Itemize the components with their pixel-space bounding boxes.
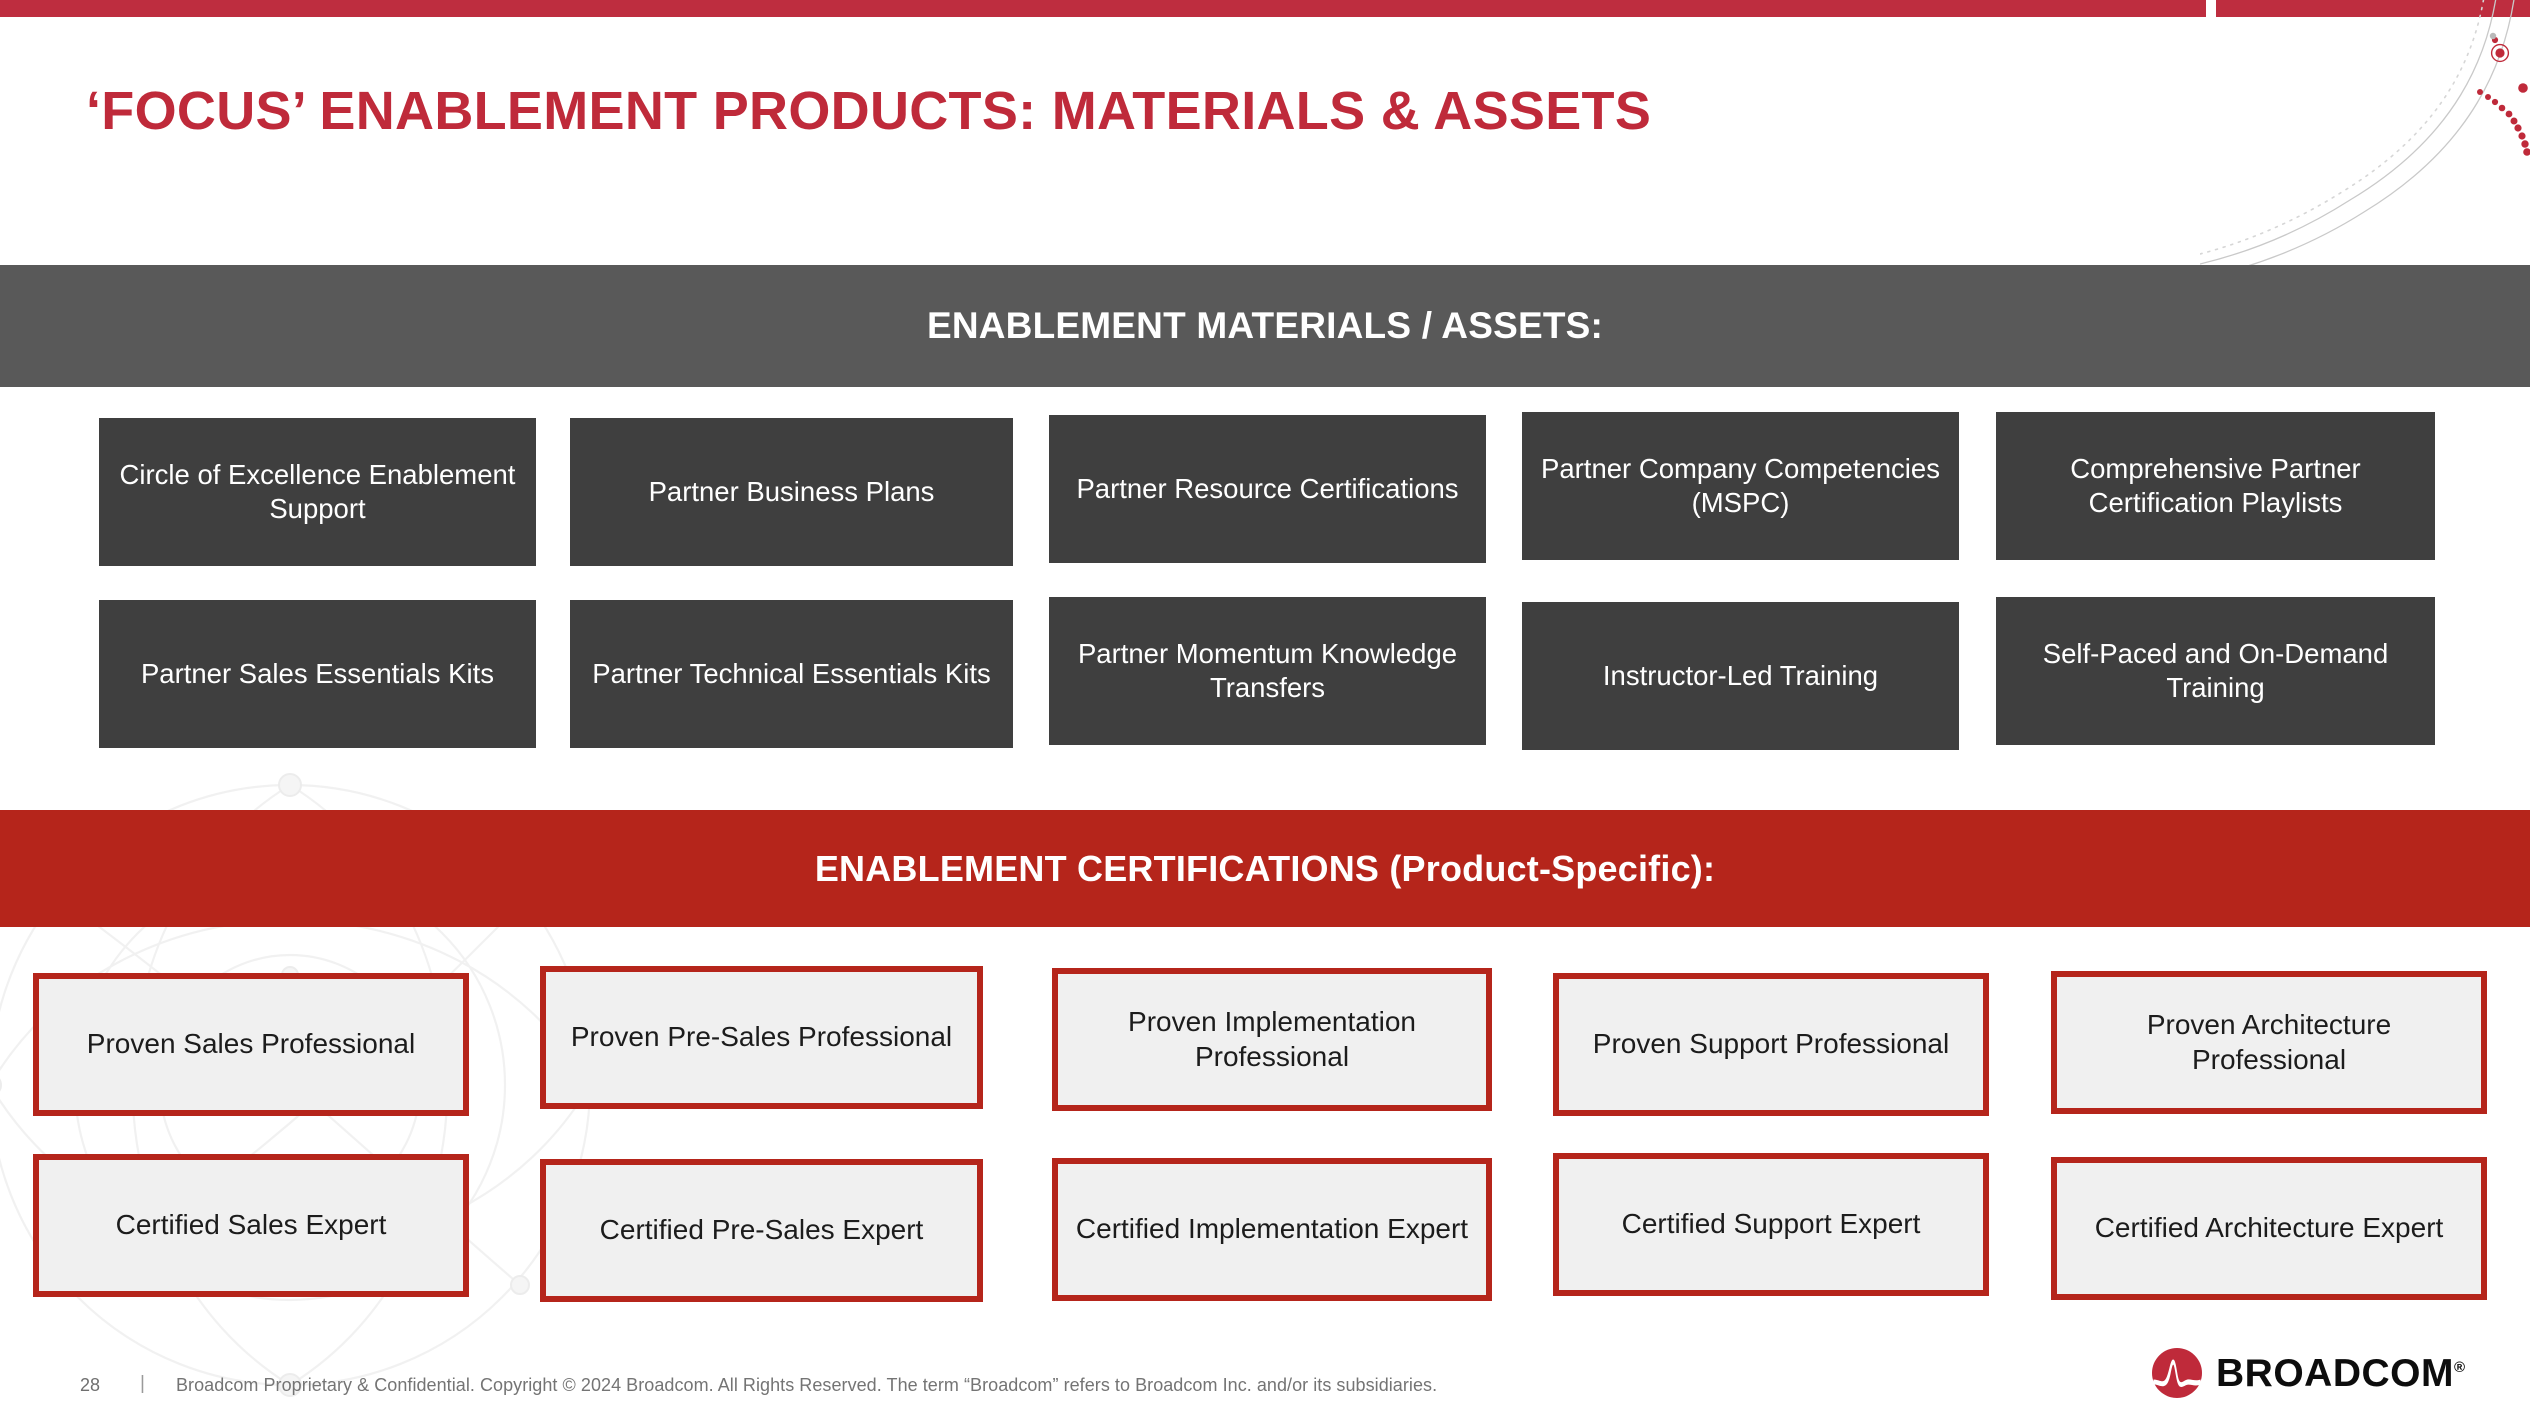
page-number: 28 bbox=[80, 1375, 100, 1396]
material-box[interactable]: Circle of Excellence Enablement Support bbox=[99, 418, 536, 566]
section-header-materials: ENABLEMENT MATERIALS / ASSETS: bbox=[0, 265, 2530, 387]
material-box[interactable]: Instructor-Led Training bbox=[1522, 602, 1959, 750]
certification-box[interactable]: Proven Implementation Professional bbox=[1052, 968, 1492, 1111]
top-accent-bar-notch bbox=[2206, 0, 2216, 17]
certification-box[interactable]: Certified Support Expert bbox=[1553, 1153, 1989, 1296]
certification-box[interactable]: Certified Pre-Sales Expert bbox=[540, 1159, 983, 1302]
material-box[interactable]: Partner Sales Essentials Kits bbox=[99, 600, 536, 748]
material-box[interactable]: Partner Momentum Knowledge Transfers bbox=[1049, 597, 1486, 745]
footer-separator: | bbox=[140, 1373, 145, 1395]
material-box[interactable]: Partner Business Plans bbox=[570, 418, 1013, 566]
section-header-materials-label: ENABLEMENT MATERIALS / ASSETS: bbox=[927, 305, 1603, 347]
certification-box[interactable]: Proven Support Professional bbox=[1553, 973, 1989, 1116]
slide-title: ‘FOCUS’ ENABLEMENT PRODUCTS: MATERIALS &… bbox=[86, 82, 2206, 141]
broadcom-pulse-icon bbox=[2152, 1348, 2202, 1398]
material-box[interactable]: Partner Company Competencies (MSPC) bbox=[1522, 412, 1959, 560]
material-box[interactable]: Comprehensive Partner Certification Play… bbox=[1996, 412, 2435, 560]
broadcom-wordmark: BROADCOM® bbox=[2216, 1354, 2466, 1393]
certification-box[interactable]: Proven Sales Professional bbox=[33, 973, 469, 1116]
material-box[interactable]: Partner Resource Certifications bbox=[1049, 415, 1486, 563]
corner-arc-decoration bbox=[2200, 0, 2530, 300]
top-accent-bar bbox=[0, 0, 2530, 17]
broadcom-logo: BROADCOM® bbox=[2152, 1348, 2466, 1398]
material-box[interactable]: Self-Paced and On-Demand Training bbox=[1996, 597, 2435, 745]
section-header-certifications-label: ENABLEMENT CERTIFICATIONS (Product-Speci… bbox=[815, 848, 1715, 890]
section-header-certifications: ENABLEMENT CERTIFICATIONS (Product-Speci… bbox=[0, 810, 2530, 927]
broadcom-wordmark-text: BROADCOM bbox=[2216, 1352, 2454, 1395]
slide-canvas: ‘FOCUS’ ENABLEMENT PRODUCTS: MATERIALS &… bbox=[0, 0, 2530, 1424]
material-box[interactable]: Partner Technical Essentials Kits bbox=[570, 600, 1013, 748]
certification-box[interactable]: Certified Implementation Expert bbox=[1052, 1158, 1492, 1301]
certification-box[interactable]: Proven Pre-Sales Professional bbox=[540, 966, 983, 1109]
certification-box[interactable]: Certified Sales Expert bbox=[33, 1154, 469, 1297]
certification-box[interactable]: Certified Architecture Expert bbox=[2051, 1157, 2487, 1300]
footer-copyright: Broadcom Proprietary & Confidential. Cop… bbox=[176, 1375, 1437, 1396]
registered-mark: ® bbox=[2454, 1359, 2466, 1376]
certification-box[interactable]: Proven Architecture Professional bbox=[2051, 971, 2487, 1114]
